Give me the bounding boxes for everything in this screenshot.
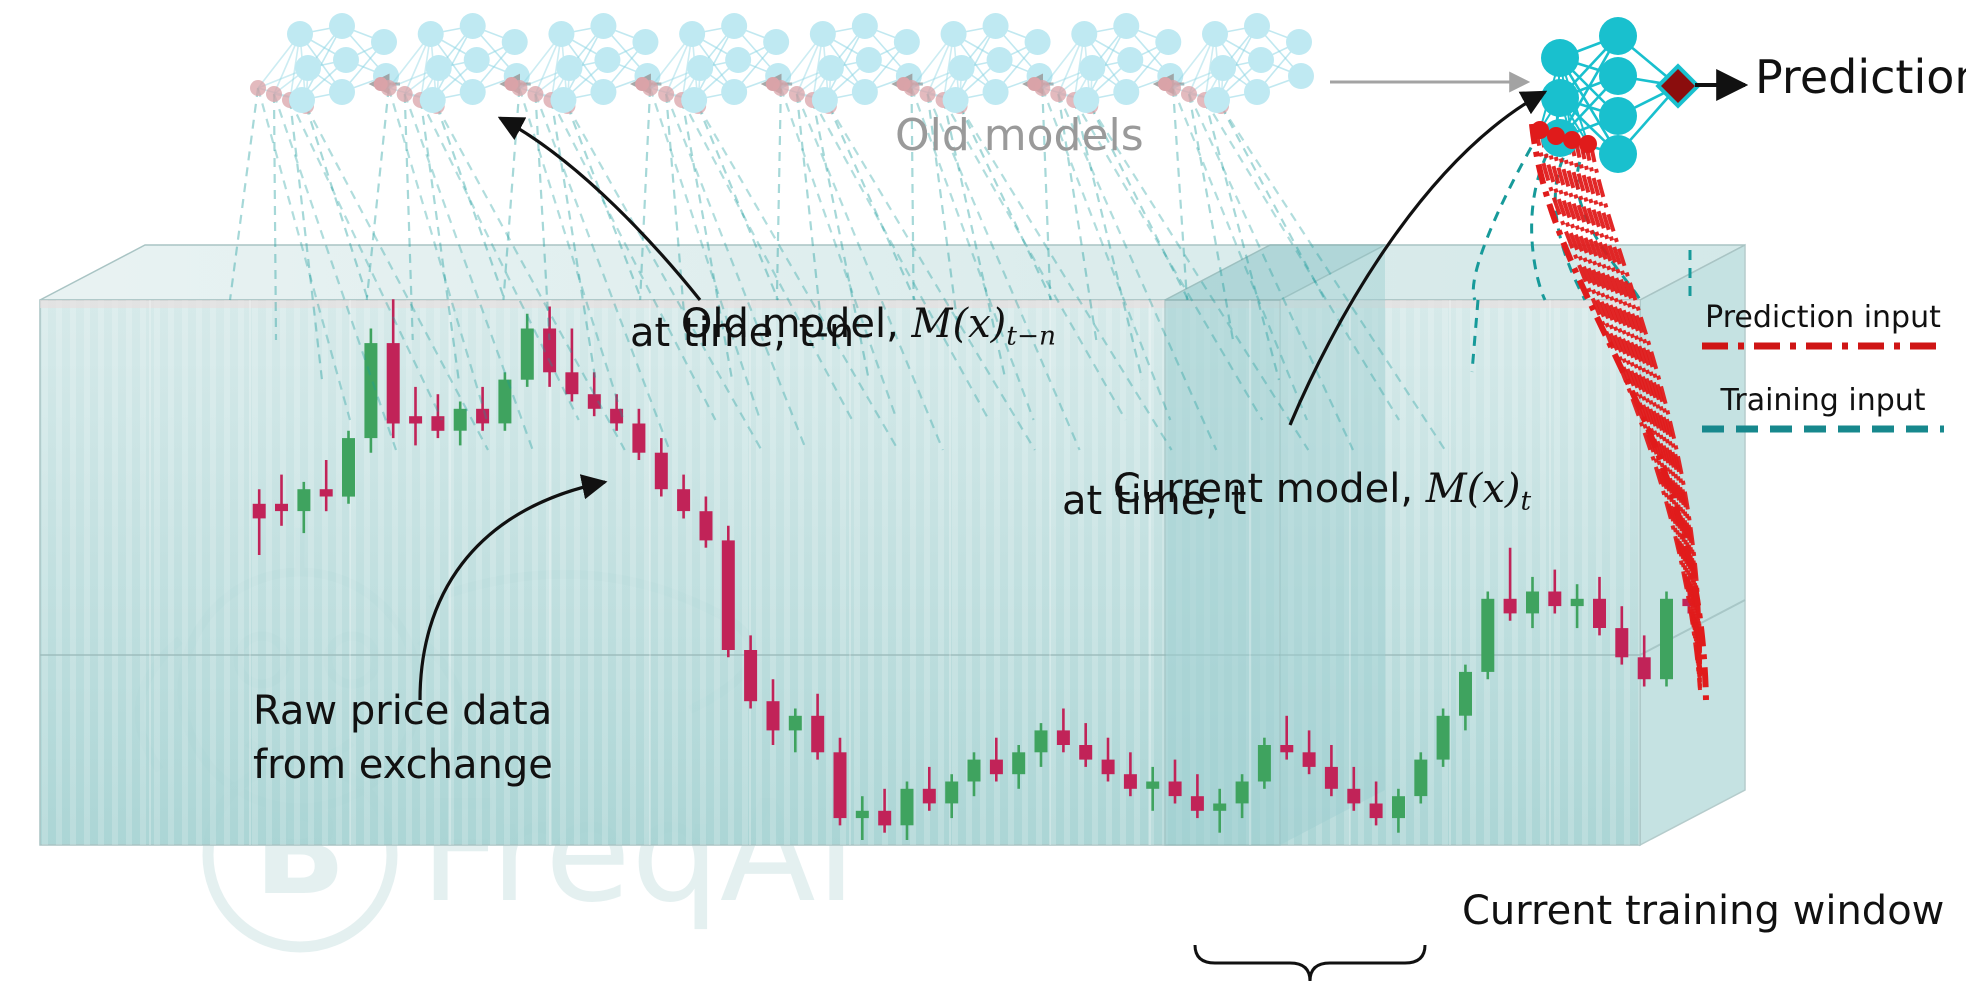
arrow-raw-price-data — [420, 482, 605, 700]
old-model-subscript: t−n — [1006, 320, 1056, 351]
training-window-brace — [1195, 945, 1425, 981]
legend-item-training-input: Training input — [1692, 383, 1954, 444]
legend-label-prediction-input: Prediction input — [1692, 300, 1954, 335]
raw-price-annotation-line1: Raw price data — [253, 688, 552, 734]
old-model-math: M(x) — [912, 301, 1007, 347]
old-models-label: Old models — [895, 110, 1144, 161]
raw-price-annotation-line2: from exchange — [253, 742, 553, 788]
current-model-math: M(x) — [1426, 466, 1521, 512]
arrow-current-model — [1290, 92, 1545, 425]
old-model-annotation-line2: at time, t-n — [630, 310, 854, 356]
legend-item-prediction-input: Prediction input — [1692, 300, 1954, 361]
current-training-window-label: Current training window — [1462, 888, 1944, 934]
legend-swatch-prediction-input — [1698, 335, 1948, 357]
prediction-label: Prediction — [1755, 50, 1966, 104]
current-model-annotation-line2: at time, t — [1062, 478, 1246, 524]
current-model-subscript: t — [1521, 485, 1532, 516]
figure-canvas: B FreqAI — [0, 0, 1966, 981]
legend-label-training-input: Training input — [1692, 383, 1954, 418]
legend: Prediction input Training input — [1692, 300, 1954, 444]
legend-swatch-training-input — [1698, 418, 1948, 440]
